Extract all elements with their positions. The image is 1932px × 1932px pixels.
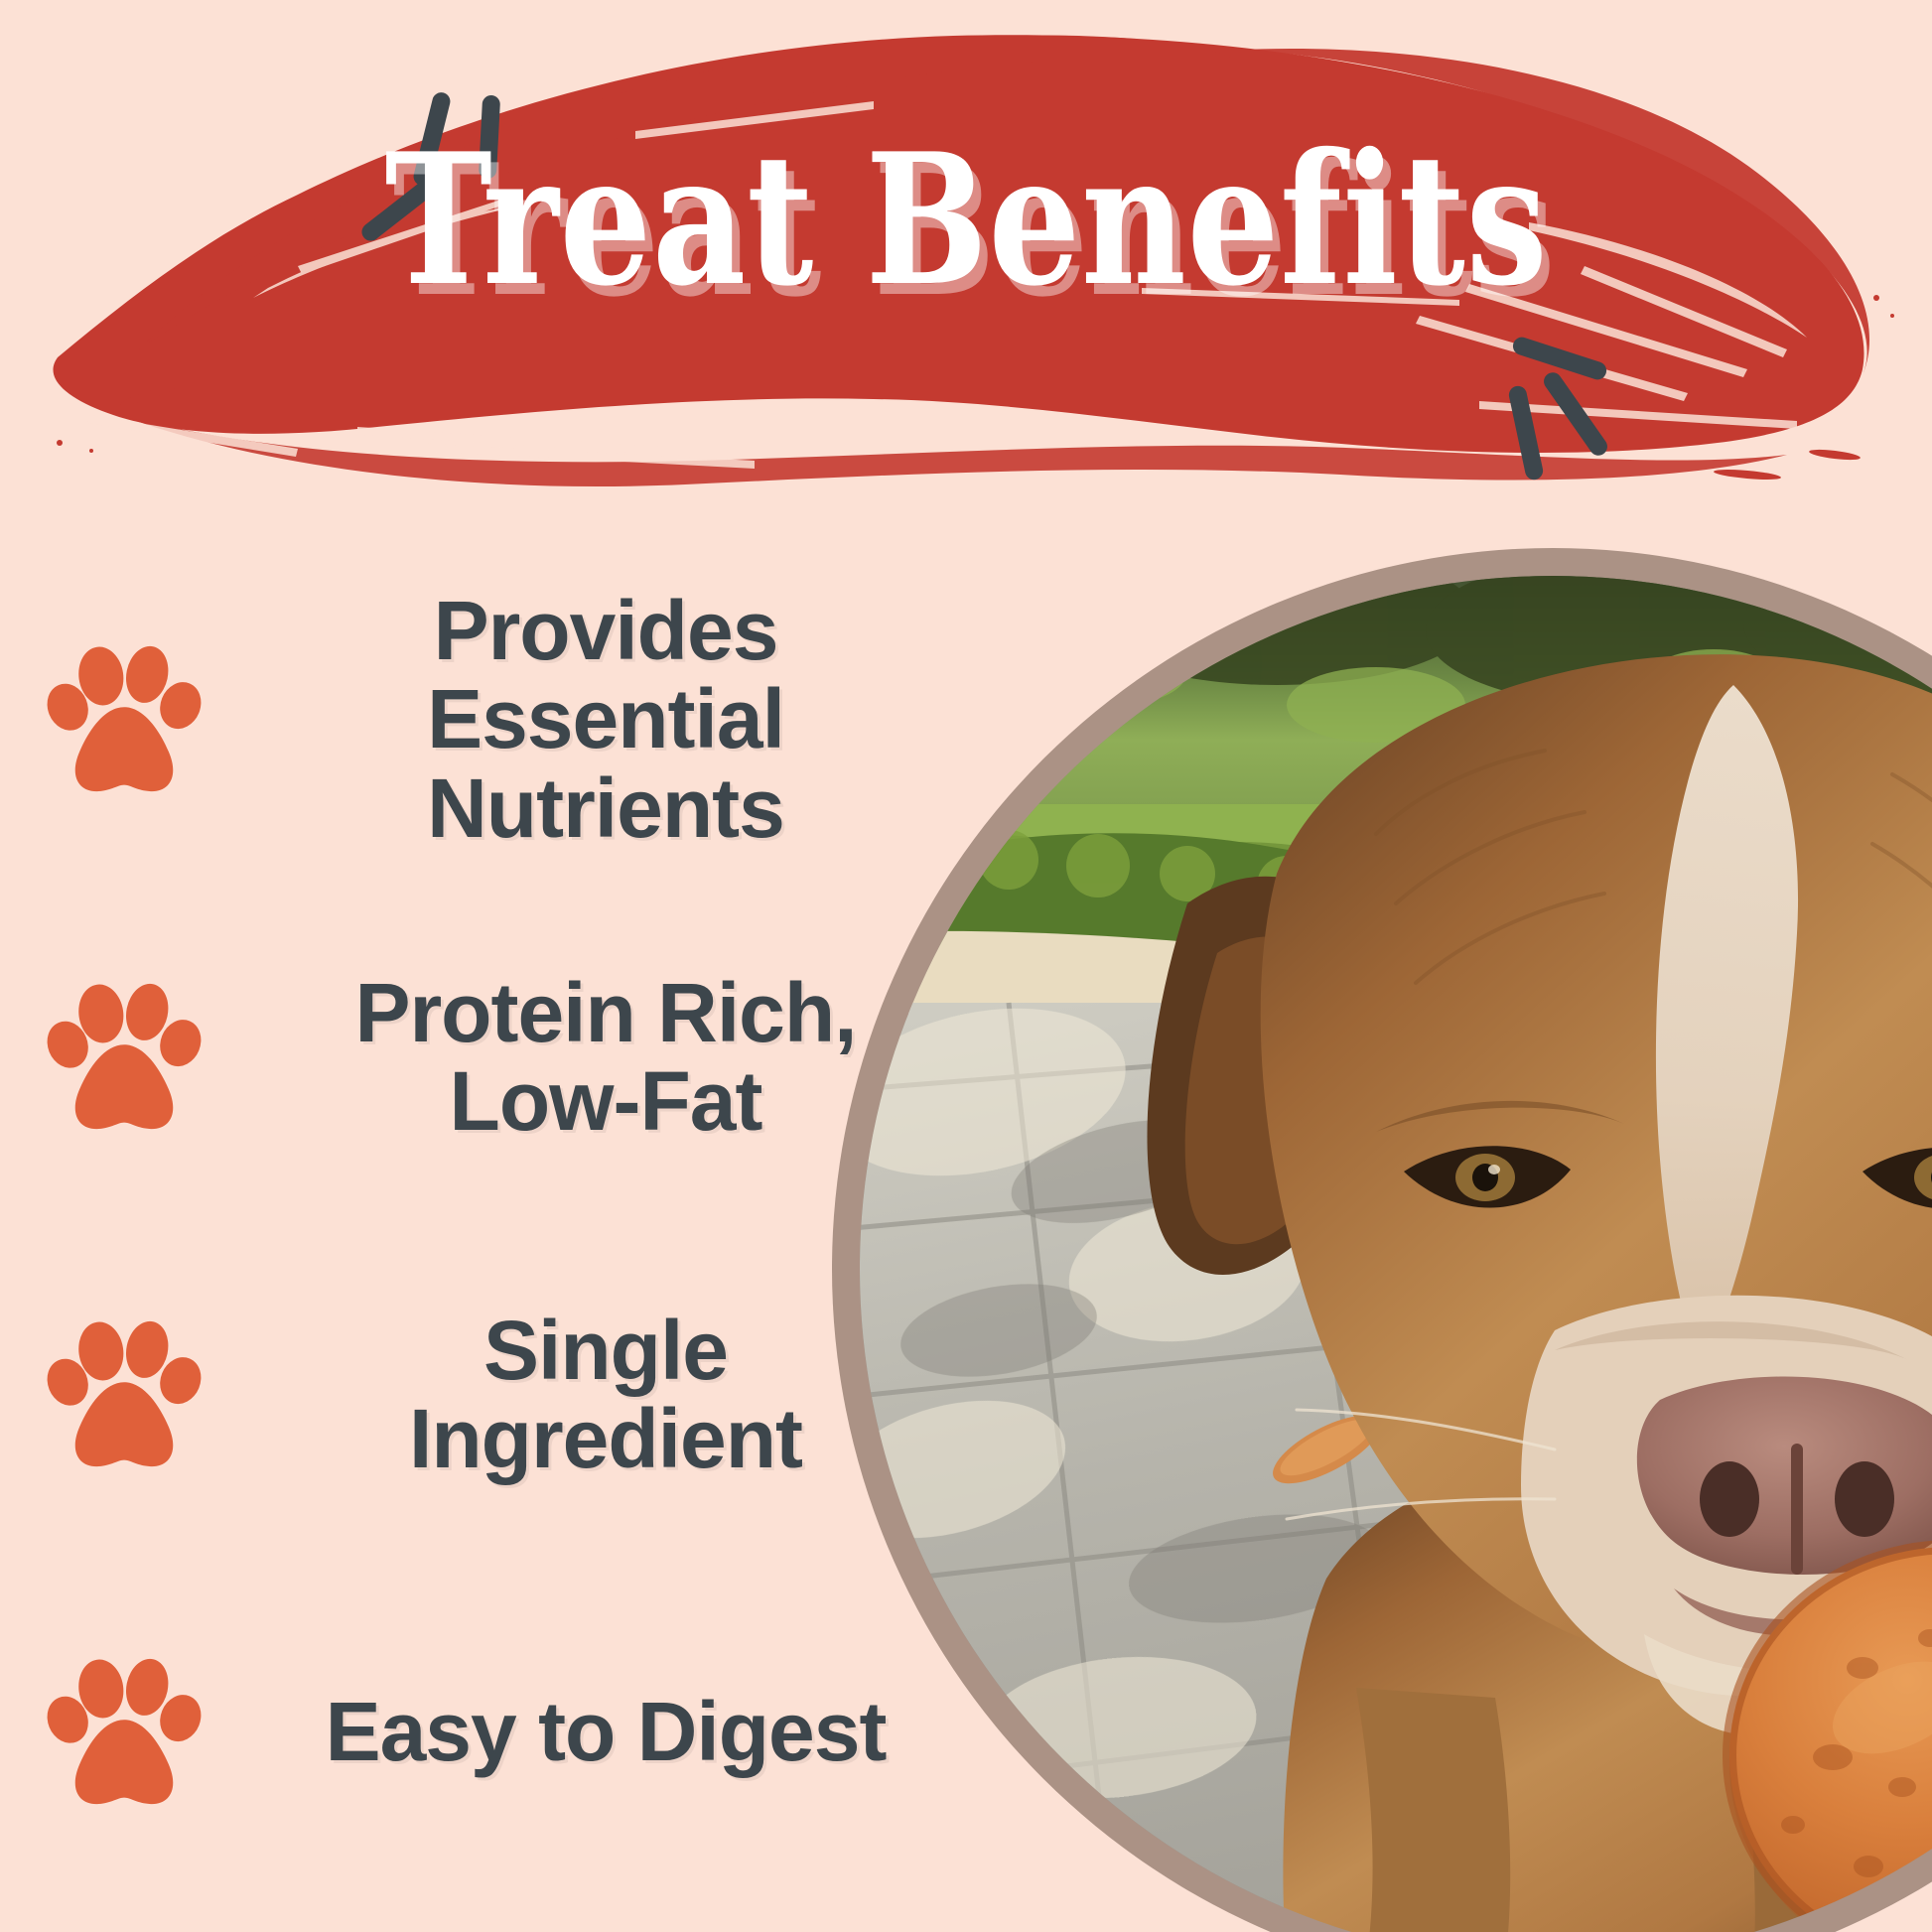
benefits-list: Provides Essential Nutrients Protein Ric… <box>0 596 973 1886</box>
dog-photo-circle <box>832 548 1932 1932</box>
benefit-item: Easy to Digest <box>0 1608 973 1857</box>
paw-print-icon-shape <box>45 640 204 799</box>
dog-photo-illustration <box>860 576 1932 1932</box>
benefit-item: Provides Essential Nutrients <box>0 596 973 844</box>
paw-print-icon-shape <box>45 1315 204 1474</box>
dog-photo <box>860 576 1932 1932</box>
benefit-item: Protein Rich, Low-Fat <box>0 933 973 1181</box>
benefit-label: Provides Essential Nutrients <box>248 587 973 852</box>
benefit-label: Protein Rich, Low-Fat <box>248 969 973 1146</box>
brush-stroke-shape <box>0 0 1932 556</box>
paw-print-icon <box>0 640 248 799</box>
benefit-label: Easy to Digest <box>248 1688 973 1776</box>
header-banner: Treat Benefits <box>0 0 1932 556</box>
paw-print-icon-shape <box>45 978 204 1137</box>
paw-print-icon <box>0 1653 248 1812</box>
paw-print-icon <box>0 978 248 1137</box>
poster-root: Treat Benefits <box>0 0 1932 1932</box>
benefit-item: Single Ingredient <box>0 1271 973 1519</box>
paw-print-icon-shape <box>45 1653 204 1812</box>
paw-print-icon <box>0 1315 248 1474</box>
benefit-label: Single Ingredient <box>248 1307 973 1483</box>
